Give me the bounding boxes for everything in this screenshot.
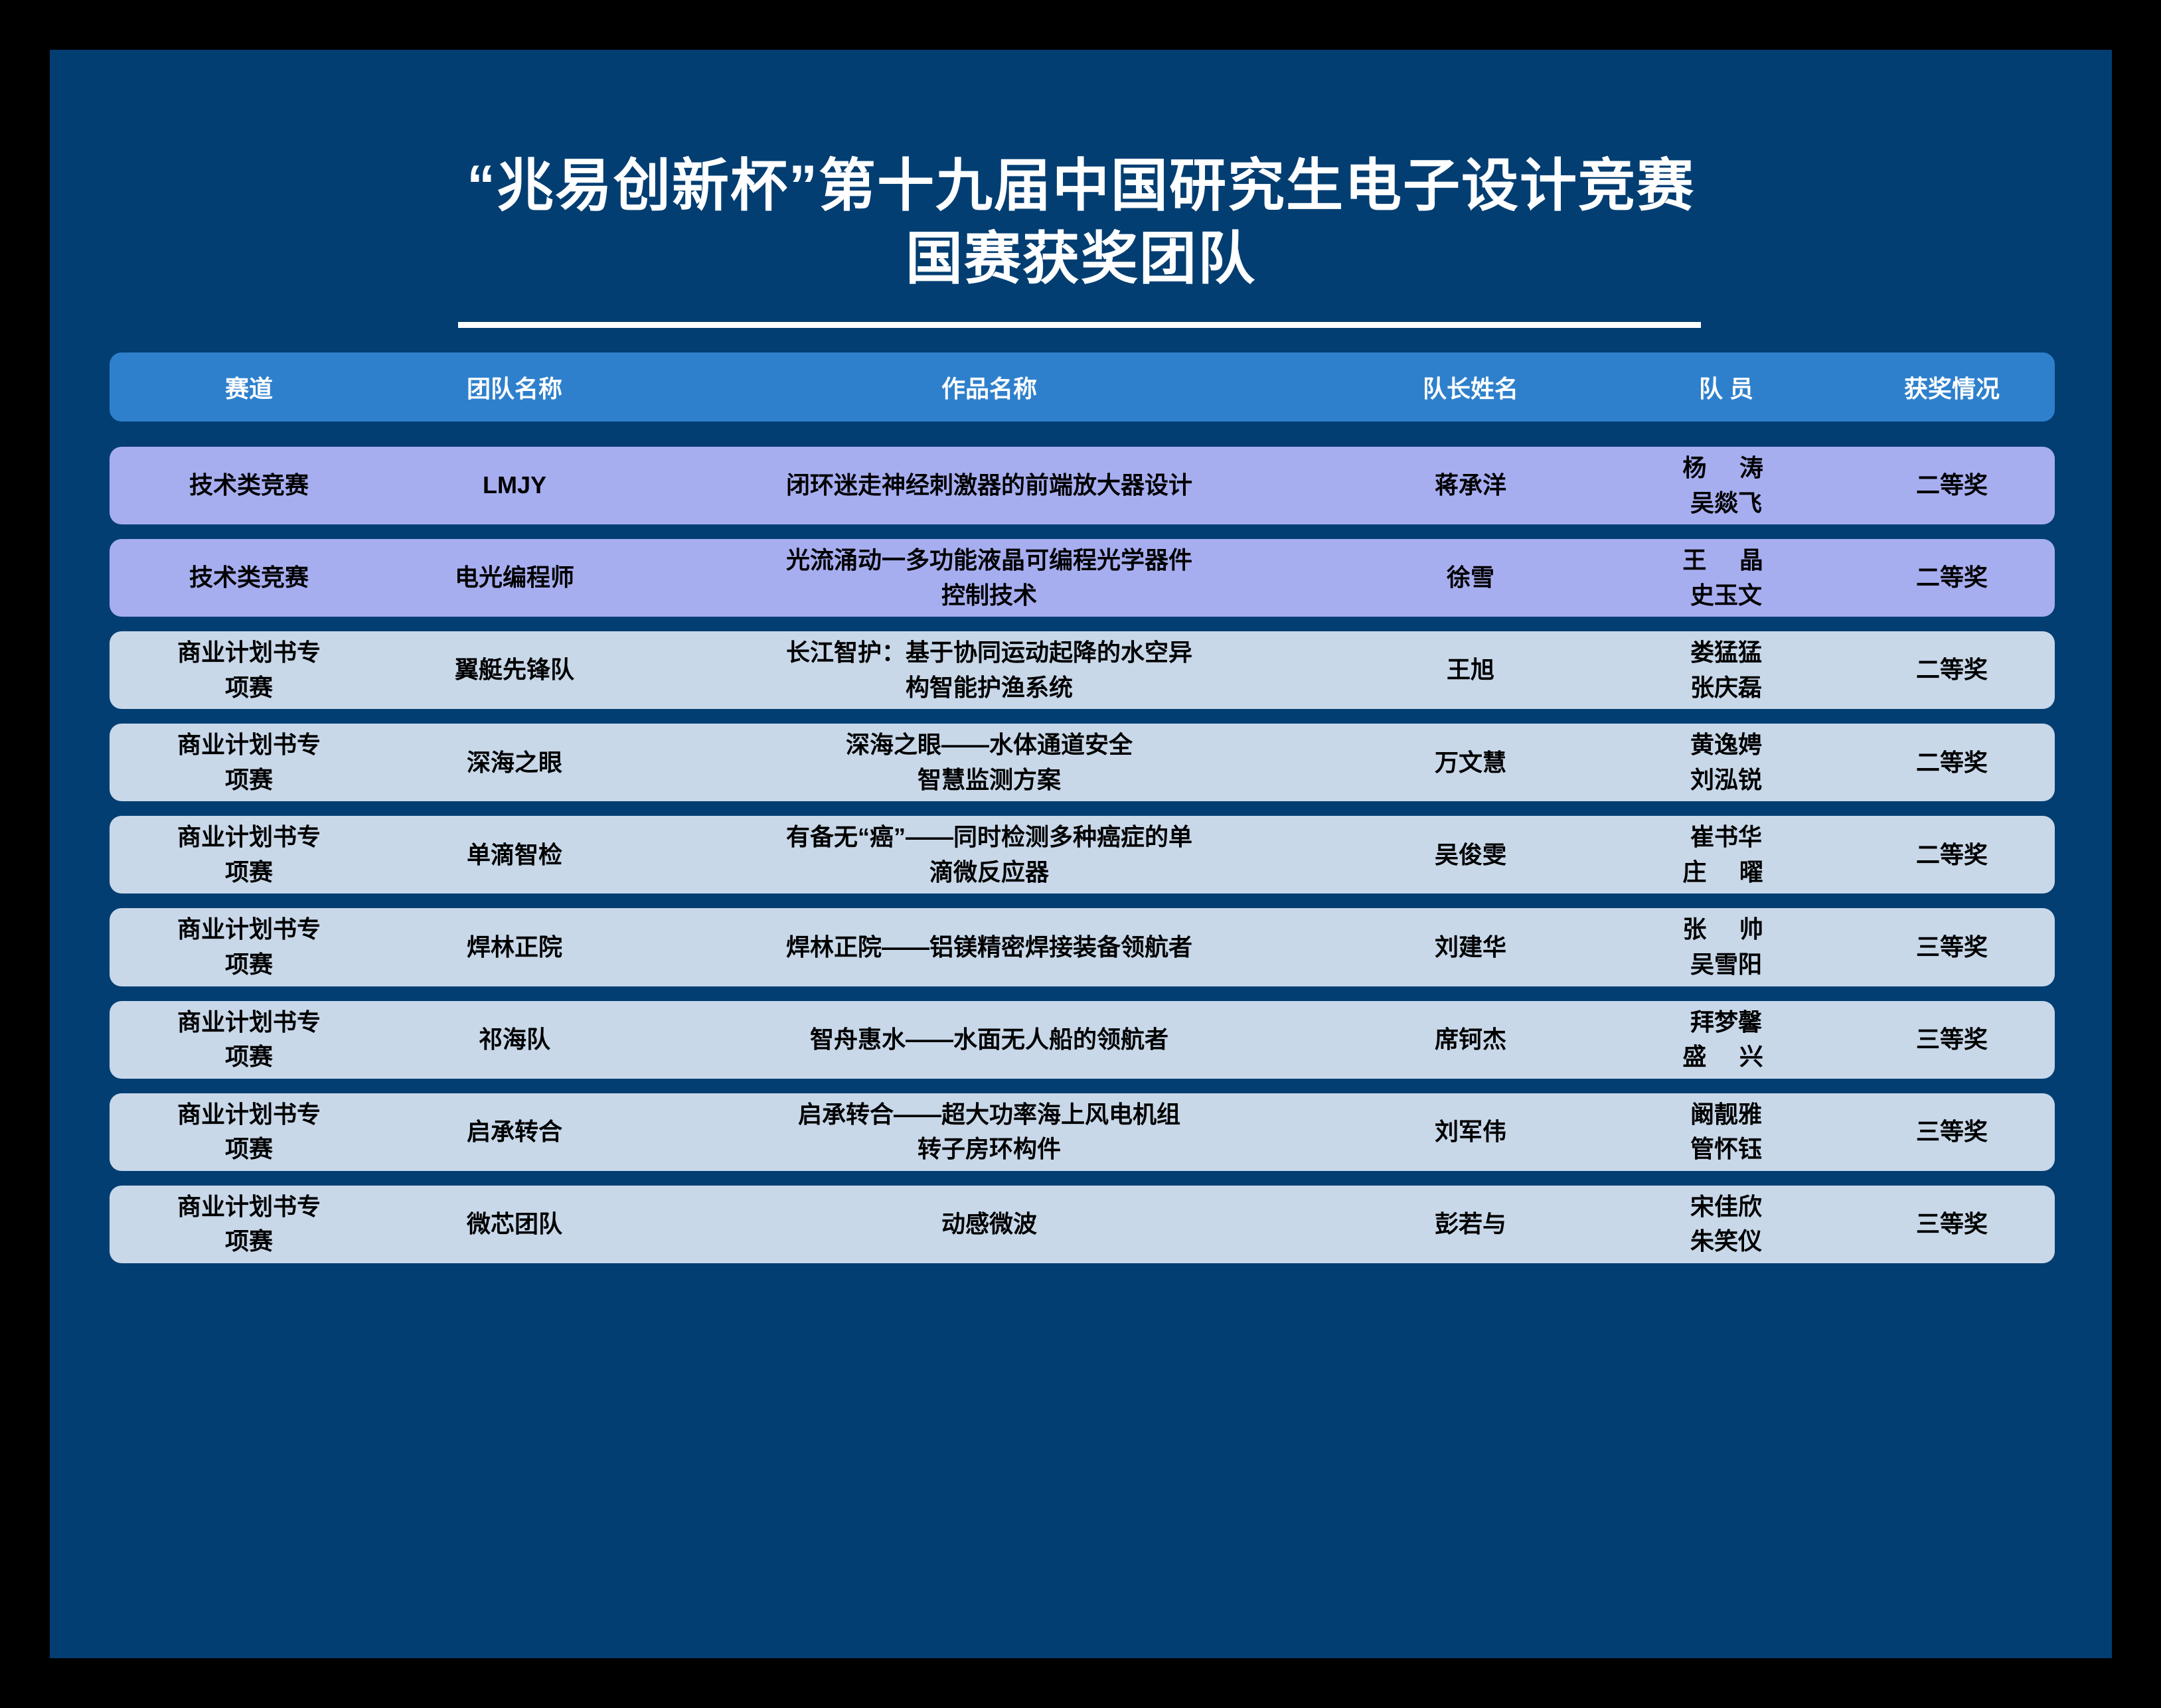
cell-captain: 万文慧 xyxy=(1338,741,1603,785)
column-header-award: 获奖情况 xyxy=(1849,366,2055,408)
member-name: 吴燚飞 xyxy=(1609,486,1844,521)
cell-award: 三等奖 xyxy=(1849,926,2055,969)
title-divider-rule xyxy=(458,322,1701,328)
table-row: 技术类竞赛电光编程师光流涌动一多功能液晶可编程光学器件 控制技术徐雪王 晶史玉文… xyxy=(110,539,2055,617)
cell-award: 二等奖 xyxy=(1849,834,2055,877)
table-header-row: 赛道团队名称作品名称队长姓名队 员获奖情况 xyxy=(110,352,2055,422)
table-row: 商业计划书专 项赛启承转合启承转合——超大功率海上风电机组 转子房环构件刘军伟阚… xyxy=(110,1093,2055,1171)
member-name: 崔书华 xyxy=(1609,820,1844,855)
member-name: 张 帅 xyxy=(1682,912,1776,947)
cell-team: LMJY xyxy=(388,464,641,507)
cell-work: 焊林正院——铝镁精密焊接装备领航者 xyxy=(641,926,1338,969)
award-table: 赛道团队名称作品名称队长姓名队 员获奖情况 技术类竞赛LMJY闭环迷走神经刺激器… xyxy=(110,352,2055,1278)
cell-track: 商业计划书专 项赛 xyxy=(110,1186,388,1263)
title-block: “兆易创新杯”第十九届中国研究生电子设计竞赛 国赛获奖团队 xyxy=(50,149,2112,295)
cell-work: 长江智护：基于协同运动起降的水空异 构智能护渔系统 xyxy=(641,631,1338,709)
table-body: 技术类竞赛LMJY闭环迷走神经刺激器的前端放大器设计蒋承洋杨 涛吴燚飞二等奖技术… xyxy=(110,447,2055,1263)
cell-award: 三等奖 xyxy=(1849,1203,2055,1246)
cell-track: 商业计划书专 项赛 xyxy=(110,908,388,986)
page-title-line-1: “兆易创新杯”第十九届中国研究生电子设计竞赛 xyxy=(50,149,2112,222)
member-name: 杨 涛 xyxy=(1682,451,1776,486)
cell-track: 商业计划书专 项赛 xyxy=(110,1001,388,1079)
column-header-work: 作品名称 xyxy=(641,366,1338,408)
cell-members: 黄逸娉刘泓锐 xyxy=(1603,724,1849,801)
slide-canvas: “兆易创新杯”第十九届中国研究生电子设计竞赛 国赛获奖团队 赛道团队名称作品名称… xyxy=(50,50,2112,1658)
member-name: 史玉文 xyxy=(1609,578,1844,613)
cell-members: 张 帅吴雪阳 xyxy=(1603,908,1849,986)
member-name: 黄逸娉 xyxy=(1609,728,1844,763)
member-name: 拜梦馨 xyxy=(1609,1005,1844,1040)
member-name: 刘泓锐 xyxy=(1609,763,1844,798)
table-row: 商业计划书专 项赛祁海队智舟惠水——水面无人船的领航者席钶杰拜梦馨盛 兴三等奖 xyxy=(110,1001,2055,1079)
cell-work: 深海之眼——水体通道安全 智慧监测方案 xyxy=(641,724,1338,801)
cell-award: 二等奖 xyxy=(1849,741,2055,785)
cell-award: 二等奖 xyxy=(1849,556,2055,599)
cell-captain: 席钶杰 xyxy=(1338,1018,1603,1061)
cell-team: 微芯团队 xyxy=(388,1203,641,1246)
cell-track: 商业计划书专 项赛 xyxy=(110,1093,388,1171)
column-header-captain: 队长姓名 xyxy=(1338,366,1603,408)
table-row: 技术类竞赛LMJY闭环迷走神经刺激器的前端放大器设计蒋承洋杨 涛吴燚飞二等奖 xyxy=(110,447,2055,524)
cell-captain: 彭若与 xyxy=(1338,1203,1603,1246)
table-row: 商业计划书专 项赛焊林正院焊林正院——铝镁精密焊接装备领航者刘建华张 帅吴雪阳三… xyxy=(110,908,2055,986)
table-row: 商业计划书专 项赛深海之眼深海之眼——水体通道安全 智慧监测方案万文慧黄逸娉刘泓… xyxy=(110,724,2055,801)
cell-team: 单滴智检 xyxy=(388,834,641,877)
cell-members: 娄猛猛张庆磊 xyxy=(1603,631,1849,709)
member-name: 庄 曜 xyxy=(1682,855,1776,890)
cell-captain: 徐雪 xyxy=(1338,556,1603,599)
cell-work: 光流涌动一多功能液晶可编程光学器件 控制技术 xyxy=(641,539,1338,617)
cell-team: 翼艇先锋队 xyxy=(388,649,641,692)
cell-captain: 王旭 xyxy=(1338,649,1603,692)
cell-award: 三等奖 xyxy=(1849,1111,2055,1154)
table-row: 商业计划书专 项赛翼艇先锋队长江智护：基于协同运动起降的水空异 构智能护渔系统王… xyxy=(110,631,2055,709)
cell-work: 智舟惠水——水面无人船的领航者 xyxy=(641,1018,1338,1061)
cell-members: 阚靓雅管怀钰 xyxy=(1603,1093,1849,1171)
cell-members: 王 晶史玉文 xyxy=(1603,539,1849,617)
cell-members: 宋佳欣朱笑仪 xyxy=(1603,1186,1849,1263)
column-header-members: 队 员 xyxy=(1603,366,1849,408)
cell-track: 商业计划书专 项赛 xyxy=(110,816,388,893)
member-name: 朱笑仪 xyxy=(1609,1224,1844,1259)
column-header-track: 赛道 xyxy=(110,366,388,408)
cell-team: 焊林正院 xyxy=(388,926,641,969)
cell-captain: 蒋承洋 xyxy=(1338,464,1603,507)
member-name: 吴雪阳 xyxy=(1609,947,1844,982)
cell-captain: 刘建华 xyxy=(1338,926,1603,969)
cell-members: 拜梦馨盛 兴 xyxy=(1603,1001,1849,1079)
member-name: 阚靓雅 xyxy=(1609,1097,1844,1132)
cell-team: 祁海队 xyxy=(388,1018,641,1061)
cell-captain: 刘军伟 xyxy=(1338,1111,1603,1154)
member-name: 张庆磊 xyxy=(1609,670,1844,706)
cell-track: 商业计划书专 项赛 xyxy=(110,724,388,801)
cell-track: 商业计划书专 项赛 xyxy=(110,631,388,709)
cell-award: 二等奖 xyxy=(1849,649,2055,692)
member-name: 管怀钰 xyxy=(1609,1132,1844,1167)
cell-members: 杨 涛吴燚飞 xyxy=(1603,447,1849,524)
column-header-team: 团队名称 xyxy=(388,366,641,408)
cell-track: 技术类竞赛 xyxy=(110,556,388,599)
cell-work: 启承转合——超大功率海上风电机组 转子房环构件 xyxy=(641,1093,1338,1171)
cell-work: 有备无“癌”——同时检测多种癌症的单 滴微反应器 xyxy=(641,816,1338,893)
page-title-line-2: 国赛获奖团队 xyxy=(50,222,2112,295)
cell-award: 三等奖 xyxy=(1849,1018,2055,1061)
member-name: 王 晶 xyxy=(1682,543,1776,578)
cell-captain: 吴俊雯 xyxy=(1338,834,1603,877)
member-name: 盛 兴 xyxy=(1682,1040,1776,1075)
cell-team: 深海之眼 xyxy=(388,741,641,785)
cell-members: 崔书华庄 曜 xyxy=(1603,816,1849,893)
table-row: 商业计划书专 项赛单滴智检有备无“癌”——同时检测多种癌症的单 滴微反应器吴俊雯… xyxy=(110,816,2055,893)
cell-work: 闭环迷走神经刺激器的前端放大器设计 xyxy=(641,464,1338,507)
cell-team: 启承转合 xyxy=(388,1111,641,1154)
cell-track: 技术类竞赛 xyxy=(110,464,388,507)
table-row: 商业计划书专 项赛微芯团队动感微波彭若与宋佳欣朱笑仪三等奖 xyxy=(110,1186,2055,1263)
member-name: 娄猛猛 xyxy=(1609,635,1844,670)
cell-work: 动感微波 xyxy=(641,1203,1338,1246)
member-name: 宋佳欣 xyxy=(1609,1190,1844,1225)
cell-team: 电光编程师 xyxy=(388,556,641,599)
cell-award: 二等奖 xyxy=(1849,464,2055,507)
